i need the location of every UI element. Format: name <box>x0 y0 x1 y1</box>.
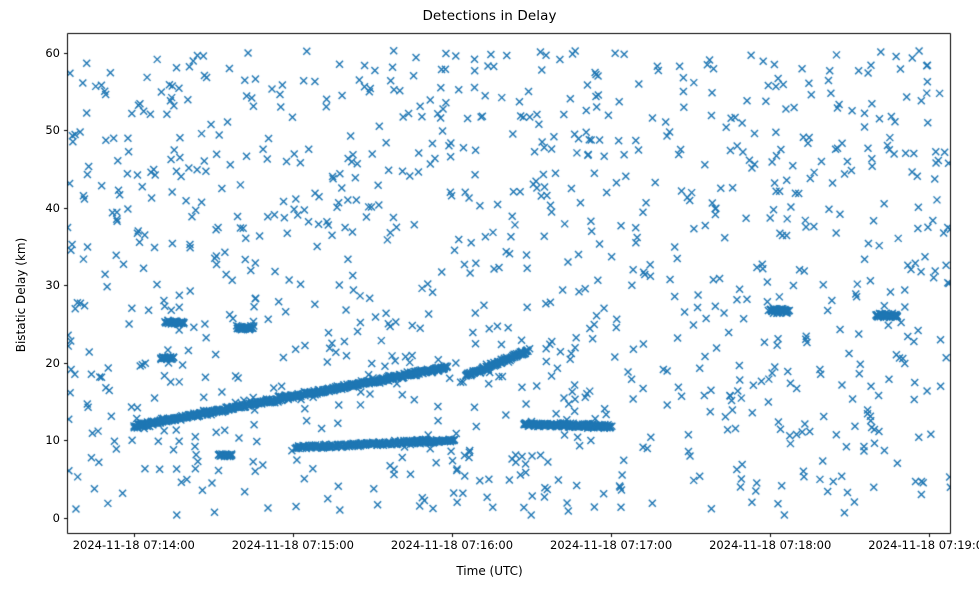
y-tick-label: 0 <box>20 511 60 525</box>
y-tick-label: 10 <box>20 433 60 447</box>
y-axis-label: Bistatic Delay (km) <box>14 0 32 590</box>
x-tick-label: 2024-11-18 07:18:00 <box>709 538 831 552</box>
y-tick-label: 30 <box>20 278 60 292</box>
matplotlib-figure: Detections in Delay Time (UTC) Bistatic … <box>0 0 979 590</box>
x-tick-label: 2024-11-18 07:15:00 <box>232 538 354 552</box>
x-tick-label: 2024-11-18 07:19:00 <box>868 538 979 552</box>
scatter-plot-canvas <box>0 0 979 590</box>
x-tick-label: 2024-11-18 07:16:00 <box>391 538 513 552</box>
x-tick-label: 2024-11-18 07:17:00 <box>550 538 672 552</box>
x-tick-label: 2024-11-18 07:14:00 <box>73 538 195 552</box>
y-tick-label: 40 <box>20 201 60 215</box>
y-tick-label: 50 <box>20 123 60 137</box>
page-title: Detections in Delay <box>0 8 979 24</box>
y-tick-label: 60 <box>20 46 60 60</box>
x-axis-label: Time (UTC) <box>0 564 979 578</box>
y-tick-label: 20 <box>20 356 60 370</box>
